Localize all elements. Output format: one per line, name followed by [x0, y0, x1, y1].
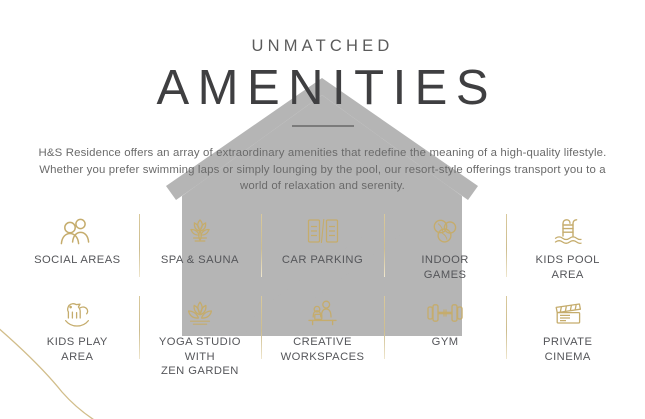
title-divider	[292, 125, 354, 127]
amenity-gym[interactable]: GYM	[384, 292, 507, 350]
lotus-icon	[143, 296, 258, 329]
rocking-horse-icon	[20, 296, 135, 329]
page-title: AMENITIES	[0, 64, 645, 114]
dumbbell-icon	[388, 296, 503, 329]
amenity-social-areas[interactable]: SOCIAL AREAS	[16, 210, 139, 268]
dice-balls-icon	[388, 214, 503, 247]
pool-ladder-icon	[510, 214, 625, 247]
page-header: UNMATCHED AMENITIES	[0, 0, 645, 127]
eyebrow-text: UNMATCHED	[0, 38, 645, 55]
amenity-car-parking[interactable]: CAR PARKING	[261, 210, 384, 268]
amenity-label: CAR PARKING	[265, 253, 380, 268]
amenities-brochure-page: UNMATCHED AMENITIES H&S Residence offers…	[0, 0, 645, 419]
intro-paragraph: H&S Residence offers an array of extraor…	[37, 145, 609, 194]
parking-spaces-icon	[265, 214, 380, 247]
amenity-label: KIDS PLAY AREA	[20, 335, 135, 364]
amenity-yoga-studio[interactable]: YOGA STUDIO WITH ZEN GARDEN	[139, 292, 262, 379]
amenity-kids-play-area[interactable]: KIDS PLAY AREA	[16, 292, 139, 364]
amenity-spa-sauna[interactable]: SPA & SAUNA	[139, 210, 262, 268]
spa-flower-icon	[143, 214, 258, 247]
amenity-label: GYM	[388, 335, 503, 350]
amenities-row-2: KIDS PLAY AREA	[0, 292, 645, 374]
amenity-label: KIDS POOL AREA	[510, 253, 625, 282]
amenity-creative-workspaces[interactable]: CREATIVE WORKSPACES	[261, 292, 384, 364]
amenity-label: INDOOR GAMES	[388, 253, 503, 282]
amenity-label: SOCIAL AREAS	[20, 253, 135, 268]
amenity-label: CREATIVE WORKSPACES	[265, 335, 380, 364]
amenity-private-cinema[interactable]: PRIVATE CINEMA	[506, 292, 629, 364]
workspace-desk-icon	[265, 296, 380, 329]
amenity-label: SPA & SAUNA	[143, 253, 258, 268]
two-people-icon	[20, 214, 135, 247]
amenities-grid: SOCIAL AREAS	[0, 210, 645, 374]
amenity-kids-pool-area[interactable]: KIDS POOL AREA	[506, 210, 629, 282]
amenity-label: PRIVATE CINEMA	[510, 335, 625, 364]
amenities-row-1: SOCIAL AREAS	[0, 210, 645, 292]
clapperboard-icon	[510, 296, 625, 329]
amenity-indoor-games[interactable]: INDOOR GAMES	[384, 210, 507, 282]
amenity-label: YOGA STUDIO WITH ZEN GARDEN	[143, 335, 258, 379]
